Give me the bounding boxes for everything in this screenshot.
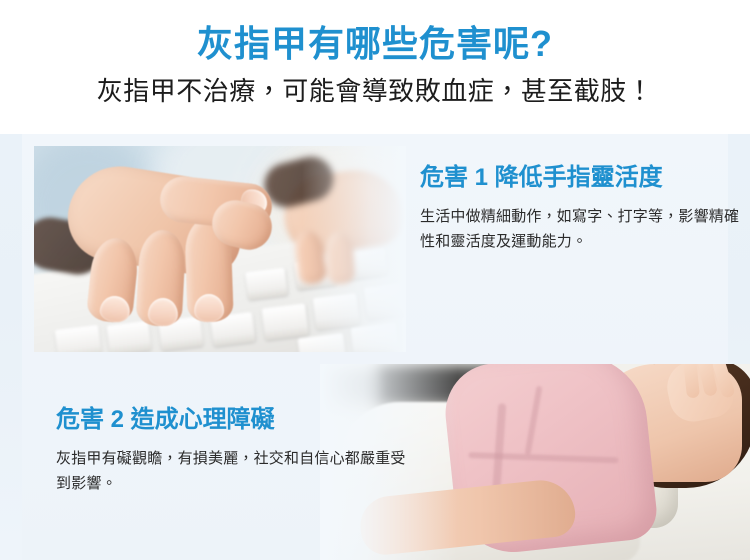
hazard-card-1-body: 生活中做精細動作，如寫字、打字等，影響精確性和靈活度及運動能力。 [420, 204, 740, 254]
hazard-card-2-text: 危害 2 造成心理障礙 灰指甲有礙觀瞻，有損美麗，社交和自信心都嚴重受到影響。 [56, 404, 406, 496]
hazard-card-1: 危害 1 降低手指靈活度 生活中做精細動作，如寫字、打字等，影響精確性和靈活度及… [22, 136, 750, 354]
keyboard-typing-photo [34, 146, 406, 352]
photo-edge-fade [34, 146, 406, 352]
page-title: 灰指甲有哪些危害呢? [0, 22, 750, 66]
page-subtitle: 灰指甲不治療，可能會導致敗血症，甚至截肢！ [0, 74, 750, 108]
hazard-card-1-text: 危害 1 降低手指靈活度 生活中做精細動作，如寫字、打字等，影響精確性和靈活度及… [420, 162, 740, 254]
hazard-card-2: 危害 2 造成心理障礙 灰指甲有礙觀瞻，有損美麗，社交和自信心都嚴重受到影響。 [22, 364, 750, 560]
infographic-page: 灰指甲有哪些危害呢? 灰指甲不治療，可能會導致敗血症，甚至截肢！ [0, 0, 750, 560]
hazard-card-2-heading: 危害 2 造成心理障礙 [56, 404, 406, 436]
header-section: 灰指甲有哪些危害呢? 灰指甲不治療，可能會導致敗血症，甚至截肢！ [0, 0, 750, 134]
hazard-card-1-heading: 危害 1 降低手指靈活度 [420, 162, 740, 194]
hazard-card-2-body: 灰指甲有礙觀瞻，有損美麗，社交和自信心都嚴重受到影響。 [56, 446, 406, 496]
